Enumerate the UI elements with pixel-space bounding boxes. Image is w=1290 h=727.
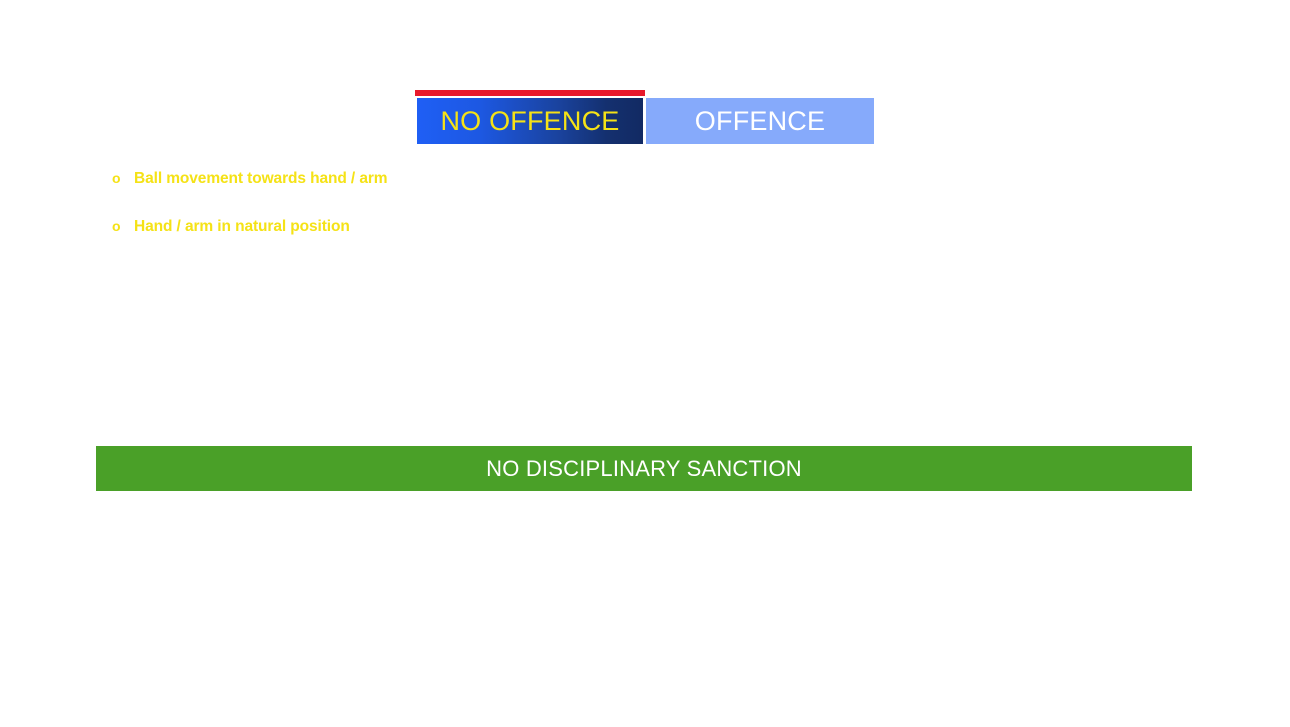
list-item: o Hand / arm in natural position: [112, 218, 812, 266]
bullet-circle-icon: o: [112, 171, 134, 185]
tab-offence[interactable]: OFFENCE: [646, 98, 874, 144]
slide-canvas: NO OFFENCE OFFENCE o Ball movement towar…: [0, 0, 1290, 727]
list-item: o Ball movement towards hand / arm: [112, 170, 812, 218]
criteria-item-label: Ball movement towards hand / arm: [134, 170, 387, 188]
criteria-list: o Ball movement towards hand / arm o Han…: [112, 170, 812, 266]
decision-header: NO OFFENCE OFFENCE: [415, 90, 875, 144]
accent-bar: [415, 90, 645, 96]
criteria-item-label: Hand / arm in natural position: [134, 218, 350, 236]
outcome-banner: NO DISCIPLINARY SANCTION: [96, 446, 1192, 491]
outcome-banner-label: NO DISCIPLINARY SANCTION: [486, 456, 802, 482]
tab-no-offence-label: NO OFFENCE: [440, 108, 619, 135]
tab-no-offence[interactable]: NO OFFENCE: [417, 98, 643, 144]
bullet-circle-icon: o: [112, 219, 134, 233]
tab-offence-label: OFFENCE: [695, 108, 825, 135]
